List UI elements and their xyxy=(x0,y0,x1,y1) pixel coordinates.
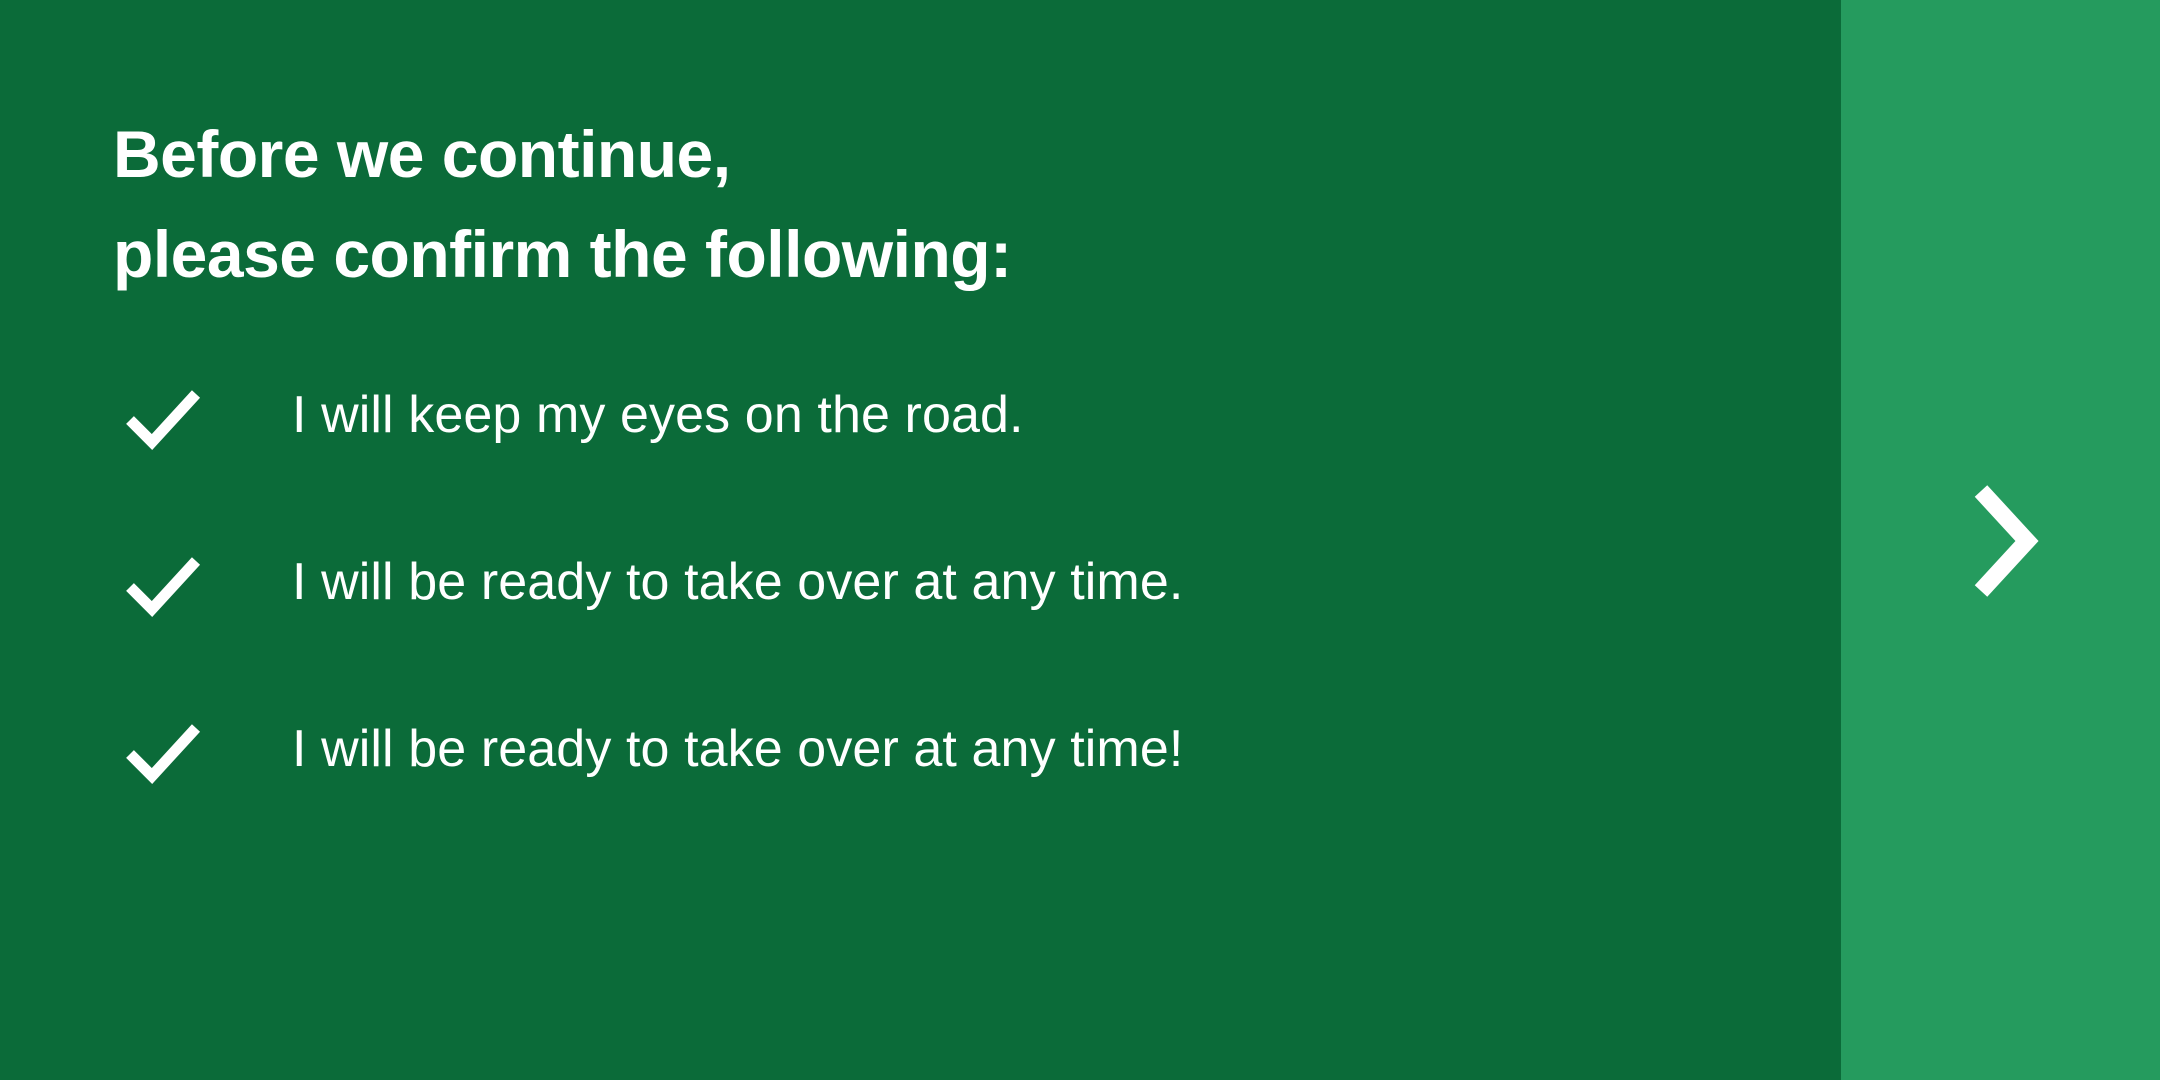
list-item[interactable]: I will be ready to take over at any time… xyxy=(113,539,1713,706)
page-title: Before we continue, please confirm the f… xyxy=(113,104,1012,304)
chevron-right-icon[interactable] xyxy=(1959,481,2043,601)
checkmark-icon xyxy=(121,710,205,794)
checkmark-icon xyxy=(121,543,205,627)
list-item-label: I will keep my eyes on the road. xyxy=(292,384,1713,446)
list-item-label: I will be ready to take over at any time… xyxy=(292,718,1713,780)
confirmation-screen: Before we continue, please confirm the f… xyxy=(0,0,2160,1080)
next-button[interactable] xyxy=(1841,0,2160,1080)
list-item[interactable]: I will keep my eyes on the road. xyxy=(113,372,1713,539)
list-item-label: I will be ready to take over at any time… xyxy=(292,551,1713,613)
confirmation-panel: Before we continue, please confirm the f… xyxy=(0,0,1841,1080)
confirmation-checklist: I will keep my eyes on the road. I will … xyxy=(113,372,1713,873)
checkmark-icon xyxy=(121,376,205,460)
list-item[interactable]: I will be ready to take over at any time… xyxy=(113,706,1713,873)
